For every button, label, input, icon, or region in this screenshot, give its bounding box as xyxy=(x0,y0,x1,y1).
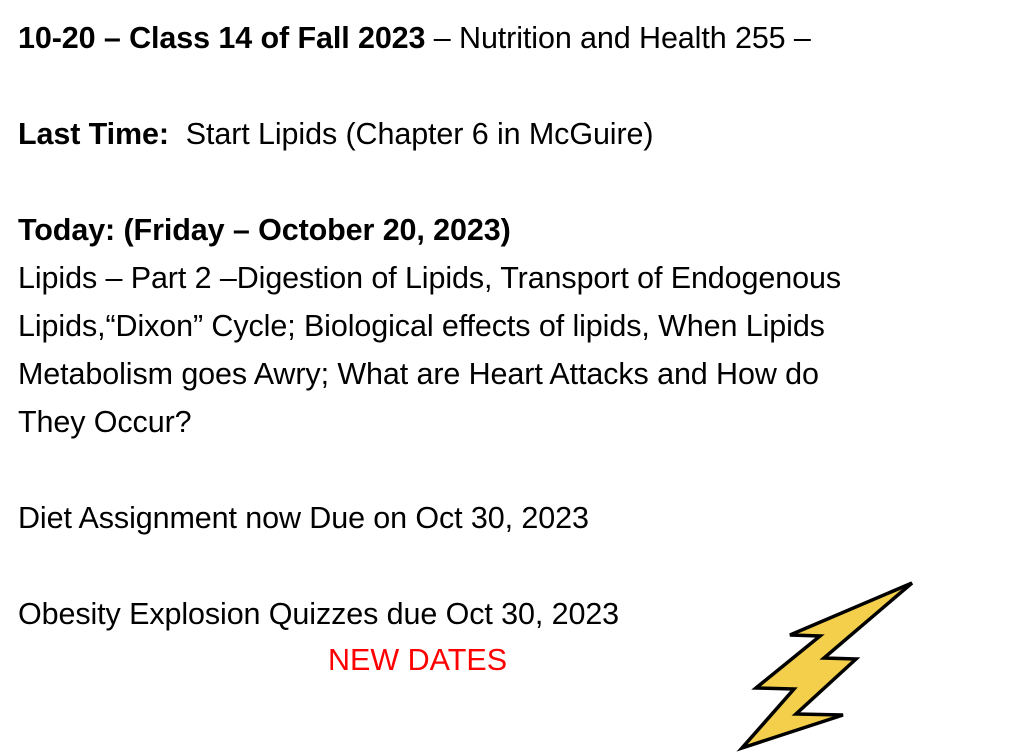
today-body-line-1: Lipids – Part 2 –Digestion of Lipids, Tr… xyxy=(18,254,1008,302)
last-time-line: Last Time: Start Lipids (Chapter 6 in Mc… xyxy=(18,110,1008,158)
slide-header-regular: – Nutrition and Health 255 – xyxy=(425,21,810,55)
today-body-line-4: They Occur? xyxy=(18,398,1008,446)
slide-header-bold: 10-20 – Class 14 of Fall 2023 xyxy=(18,21,425,55)
last-time-label: Last Time: xyxy=(18,117,169,151)
last-time-text: Start Lipids (Chapter 6 in McGuire) xyxy=(169,117,653,151)
spacer-line-3 xyxy=(18,446,1008,494)
today-body-line-3: Metabolism goes Awry; What are Heart Att… xyxy=(18,350,1008,398)
new-dates-label: NEW DATES xyxy=(18,638,1008,682)
diet-assignment-line: Diet Assignment now Due on Oct 30, 2023 xyxy=(18,494,1008,542)
today-body-line-2: Lipids,“Dixon” Cycle; Biological effects… xyxy=(18,302,1008,350)
slide-header-line: 10-20 – Class 14 of Fall 2023 – Nutritio… xyxy=(18,14,1008,62)
spacer-line-4 xyxy=(18,542,1008,590)
spacer-line-1 xyxy=(18,62,1008,110)
obesity-quizzes-line: Obesity Explosion Quizzes due Oct 30, 20… xyxy=(18,590,1008,638)
spacer-line-2 xyxy=(18,158,1008,206)
slide-text-block: 10-20 – Class 14 of Fall 2023 – Nutritio… xyxy=(18,14,1008,682)
slide-canvas: 10-20 – Class 14 of Fall 2023 – Nutritio… xyxy=(0,0,1023,751)
today-heading: Today: (Friday – October 20, 2023) xyxy=(18,206,1008,254)
